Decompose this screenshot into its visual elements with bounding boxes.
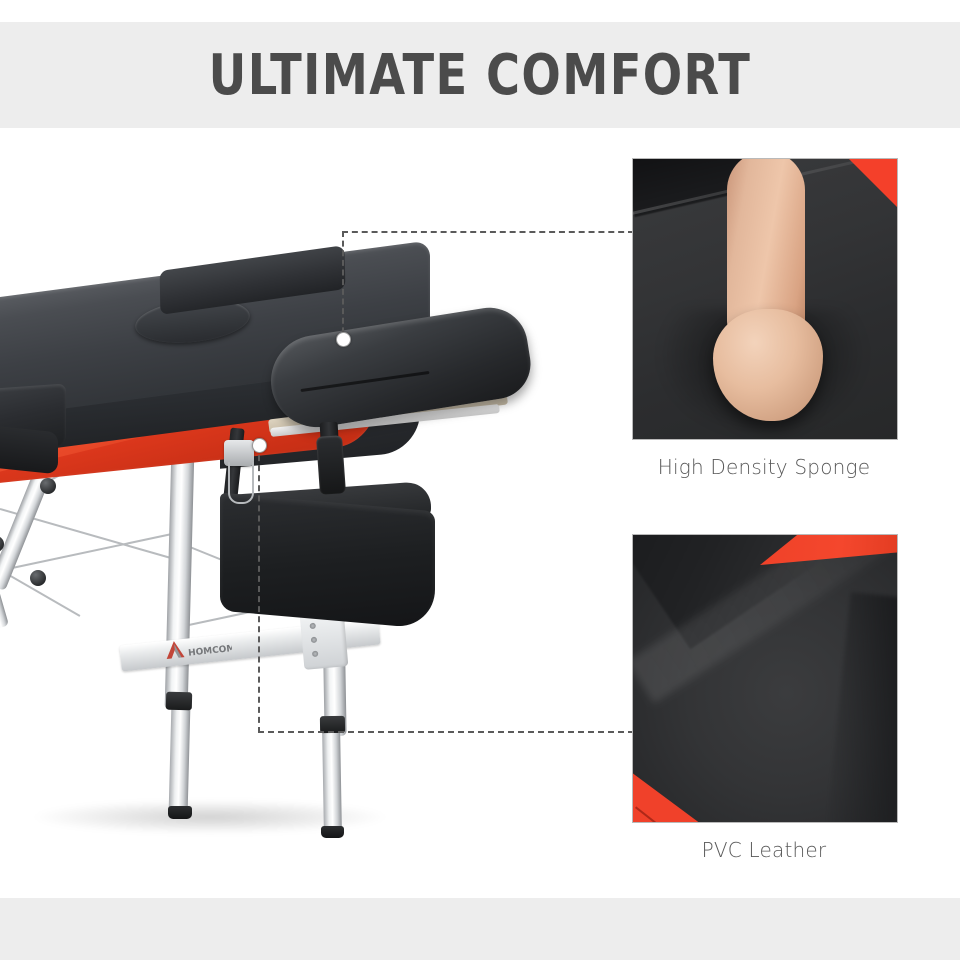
footer-band bbox=[0, 898, 960, 960]
callout-marker-sponge bbox=[336, 332, 351, 347]
rivet bbox=[309, 623, 316, 630]
detail-panel-high-density-sponge bbox=[632, 158, 898, 440]
leg-extension bbox=[322, 726, 342, 836]
infographic-canvas: ULTIMATE COMFORT bbox=[0, 0, 960, 960]
latch-hook bbox=[228, 462, 254, 504]
product-image: HOMCOM bbox=[0, 240, 630, 860]
callout-marker-leather bbox=[252, 438, 267, 453]
table-leg bbox=[165, 450, 195, 711]
leg-extension bbox=[168, 702, 190, 817]
storage-pouch bbox=[220, 493, 435, 630]
homcom-logo-icon: HOMCOM bbox=[157, 632, 234, 670]
rivet bbox=[312, 651, 319, 658]
svg-text:HOMCOM: HOMCOM bbox=[188, 644, 234, 659]
connector-line-bottom-vertical bbox=[258, 445, 260, 733]
leg-foot bbox=[168, 806, 192, 819]
frame-knob bbox=[30, 570, 46, 586]
leg-foot bbox=[321, 826, 344, 838]
connector-line-top-vertical bbox=[342, 231, 344, 343]
frame-knob bbox=[40, 478, 56, 494]
connector-line-top bbox=[342, 231, 634, 233]
page-title: ULTIMATE COMFORT bbox=[38, 22, 921, 128]
detail-panel-pvc-leather bbox=[632, 534, 898, 823]
detail-caption-sponge: High Density Sponge bbox=[632, 455, 896, 479]
pouch-buckle bbox=[316, 435, 346, 495]
leg-collar bbox=[166, 692, 192, 711]
detail-caption-leather: PVC Leather bbox=[632, 838, 896, 862]
rivet bbox=[311, 637, 318, 644]
connector-line-bottom bbox=[258, 731, 634, 733]
